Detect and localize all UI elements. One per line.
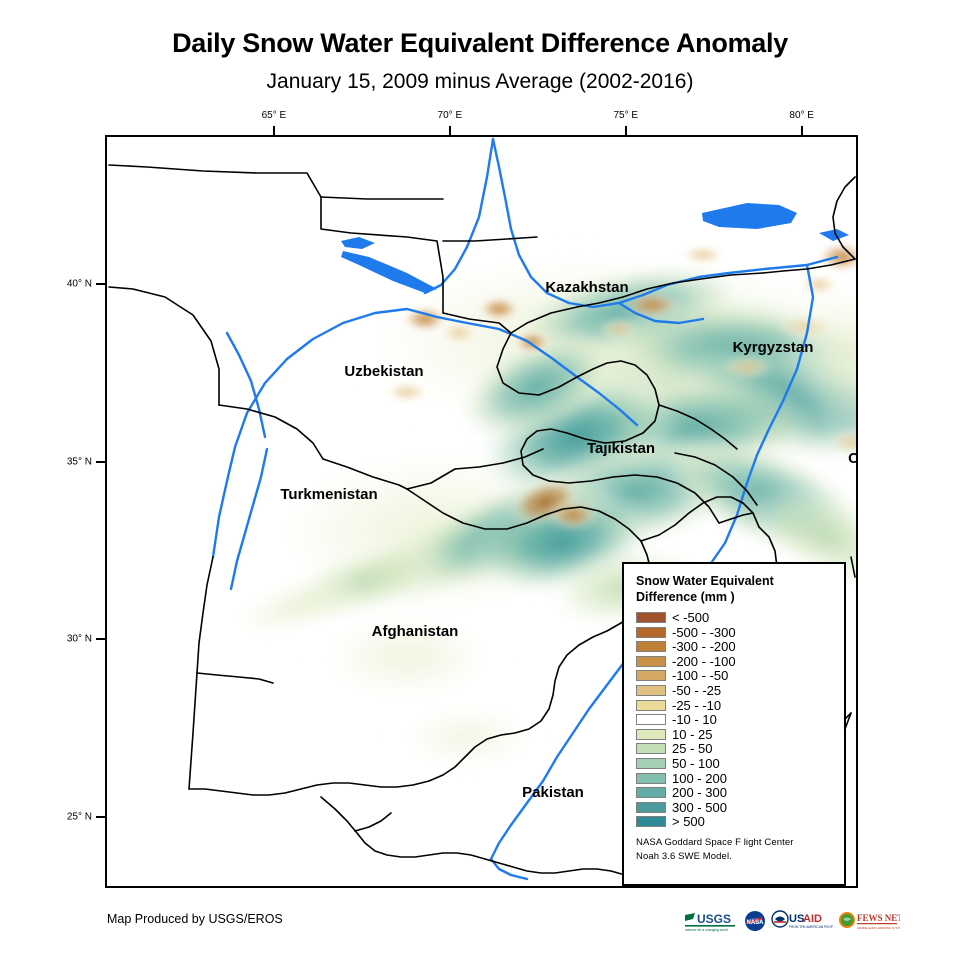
country-label: Turkmenistan — [280, 486, 377, 503]
legend-label: -10 - 10 — [672, 713, 717, 726]
longitude-tick — [801, 126, 803, 135]
longitude-tick-label: 70° E — [438, 110, 463, 121]
legend-entry: -25 - -10 — [636, 698, 834, 713]
legend-credit: NASA Goddard Space F light Center Noah 3… — [636, 836, 834, 864]
legend-label: -300 - -200 — [672, 640, 736, 653]
legend-swatch — [636, 700, 666, 711]
longitude-tick-label: 75° E — [613, 110, 638, 121]
legend-label: -500 - -300 — [672, 626, 736, 639]
usaid-logo: US AID FROM THE AMERICAN PEOPLE — [771, 910, 833, 932]
country-label: China — [848, 450, 856, 467]
legend-label: 50 - 100 — [672, 757, 720, 770]
legend-credit-line1: NASA Goddard Space F light Center — [636, 836, 834, 850]
legend-entry: -50 - -25 — [636, 683, 834, 698]
legend-label: 100 - 200 — [672, 772, 727, 785]
longitude-tick — [625, 126, 627, 135]
longitude-tick-label: 80° E — [789, 110, 814, 121]
legend-swatch — [636, 714, 666, 725]
legend-entry: -10 - 10 — [636, 712, 834, 727]
svg-text:FAMINE EARLY WARNING SYSTEMS N: FAMINE EARLY WARNING SYSTEMS NETWORK — [857, 926, 900, 930]
legend-entry: 200 - 300 — [636, 785, 834, 800]
legend-entry: -100 - -50 — [636, 669, 834, 684]
legend-label: 200 - 300 — [672, 786, 727, 799]
legend-label: < -500 — [672, 611, 709, 624]
legend-title: Snow Water Equivalent Difference (mm ) — [636, 574, 834, 605]
latitude-tick — [96, 638, 105, 640]
legend-entry: 25 - 50 — [636, 742, 834, 757]
latitude-tick-label: 30° N — [67, 634, 92, 645]
nasa-logo: NASA — [744, 910, 766, 932]
legend-entries: < -500-500 - -300-300 - -200-200 - -100-… — [636, 610, 834, 829]
svg-text:AID: AID — [803, 913, 822, 925]
agency-logos: USGS science for a changing world NASA U… — [683, 910, 900, 932]
country-label: Afghanistan — [372, 623, 459, 640]
legend-label: -25 - -10 — [672, 699, 721, 712]
legend-label: 300 - 500 — [672, 801, 727, 814]
legend-swatch — [636, 612, 666, 623]
legend-label: > 500 — [672, 815, 705, 828]
legend-swatch — [636, 641, 666, 652]
legend-entry: 10 - 25 — [636, 727, 834, 742]
legend-title-line2: Difference (mm ) — [636, 590, 834, 606]
legend-label: 10 - 25 — [672, 728, 712, 741]
legend-swatch — [636, 656, 666, 667]
svg-text:USGS: USGS — [697, 912, 731, 926]
legend-entry: 100 - 200 — [636, 771, 834, 786]
legend-entry: 300 - 500 — [636, 800, 834, 815]
legend-swatch — [636, 670, 666, 681]
legend-entry: > 500 — [636, 815, 834, 830]
fewsnet-logo: FEWS NET FAMINE EARLY WARNING SYSTEMS NE… — [838, 910, 900, 932]
latitude-tick — [96, 461, 105, 463]
legend-entry: -500 - -300 — [636, 625, 834, 640]
svg-text:FROM THE AMERICAN PEOPLE: FROM THE AMERICAN PEOPLE — [789, 925, 833, 929]
country-label: Uzbekistan — [344, 363, 423, 380]
legend-entry: -200 - -100 — [636, 654, 834, 669]
legend-swatch — [636, 758, 666, 769]
legend-swatch — [636, 743, 666, 754]
country-label: Pakistan — [522, 784, 584, 801]
longitude-tick-label: 65° E — [262, 110, 287, 121]
legend-swatch — [636, 685, 666, 696]
legend-label: -50 - -25 — [672, 684, 721, 697]
usgs-logo: USGS science for a changing world — [683, 910, 739, 932]
legend-entry: 50 - 100 — [636, 756, 834, 771]
svg-text:US: US — [789, 913, 804, 925]
page-subtitle: January 15, 2009 minus Average (2002-201… — [0, 70, 960, 94]
legend-label: -100 - -50 — [672, 669, 728, 682]
footer-credit: Map Produced by USGS/EROS — [107, 912, 283, 926]
legend-label: 25 - 50 — [672, 742, 712, 755]
latitude-tick-label: 40° N — [67, 279, 92, 290]
latitude-tick-label: 25° N — [67, 811, 92, 822]
svg-text:NASA: NASA — [746, 920, 764, 926]
svg-text:FEWS NET: FEWS NET — [857, 913, 900, 923]
longitude-tick — [449, 126, 451, 135]
country-label: Kyrgyzstan — [733, 339, 814, 356]
legend-swatch — [636, 816, 666, 827]
country-label: Kazakhstan — [545, 279, 628, 296]
legend-entry: -300 - -200 — [636, 639, 834, 654]
page-title: Daily Snow Water Equivalent Difference A… — [0, 28, 960, 59]
latitude-tick-label: 35° N — [67, 456, 92, 467]
svg-text:science for a changing world: science for a changing world — [685, 928, 728, 932]
legend-swatch — [636, 773, 666, 784]
country-label: Tajikistan — [587, 440, 655, 457]
legend-swatch — [636, 787, 666, 798]
legend-credit-line2: Noah 3.6 SWE Model. — [636, 850, 834, 864]
legend-swatch — [636, 729, 666, 740]
legend-title-line1: Snow Water Equivalent — [636, 574, 834, 590]
latitude-tick — [96, 283, 105, 285]
map-legend[interactable]: Snow Water Equivalent Difference (mm ) <… — [622, 562, 846, 886]
longitude-tick — [273, 126, 275, 135]
legend-label: -200 - -100 — [672, 655, 736, 668]
legend-swatch — [636, 802, 666, 813]
latitude-tick — [96, 816, 105, 818]
legend-entry: < -500 — [636, 610, 834, 625]
legend-swatch — [636, 627, 666, 638]
